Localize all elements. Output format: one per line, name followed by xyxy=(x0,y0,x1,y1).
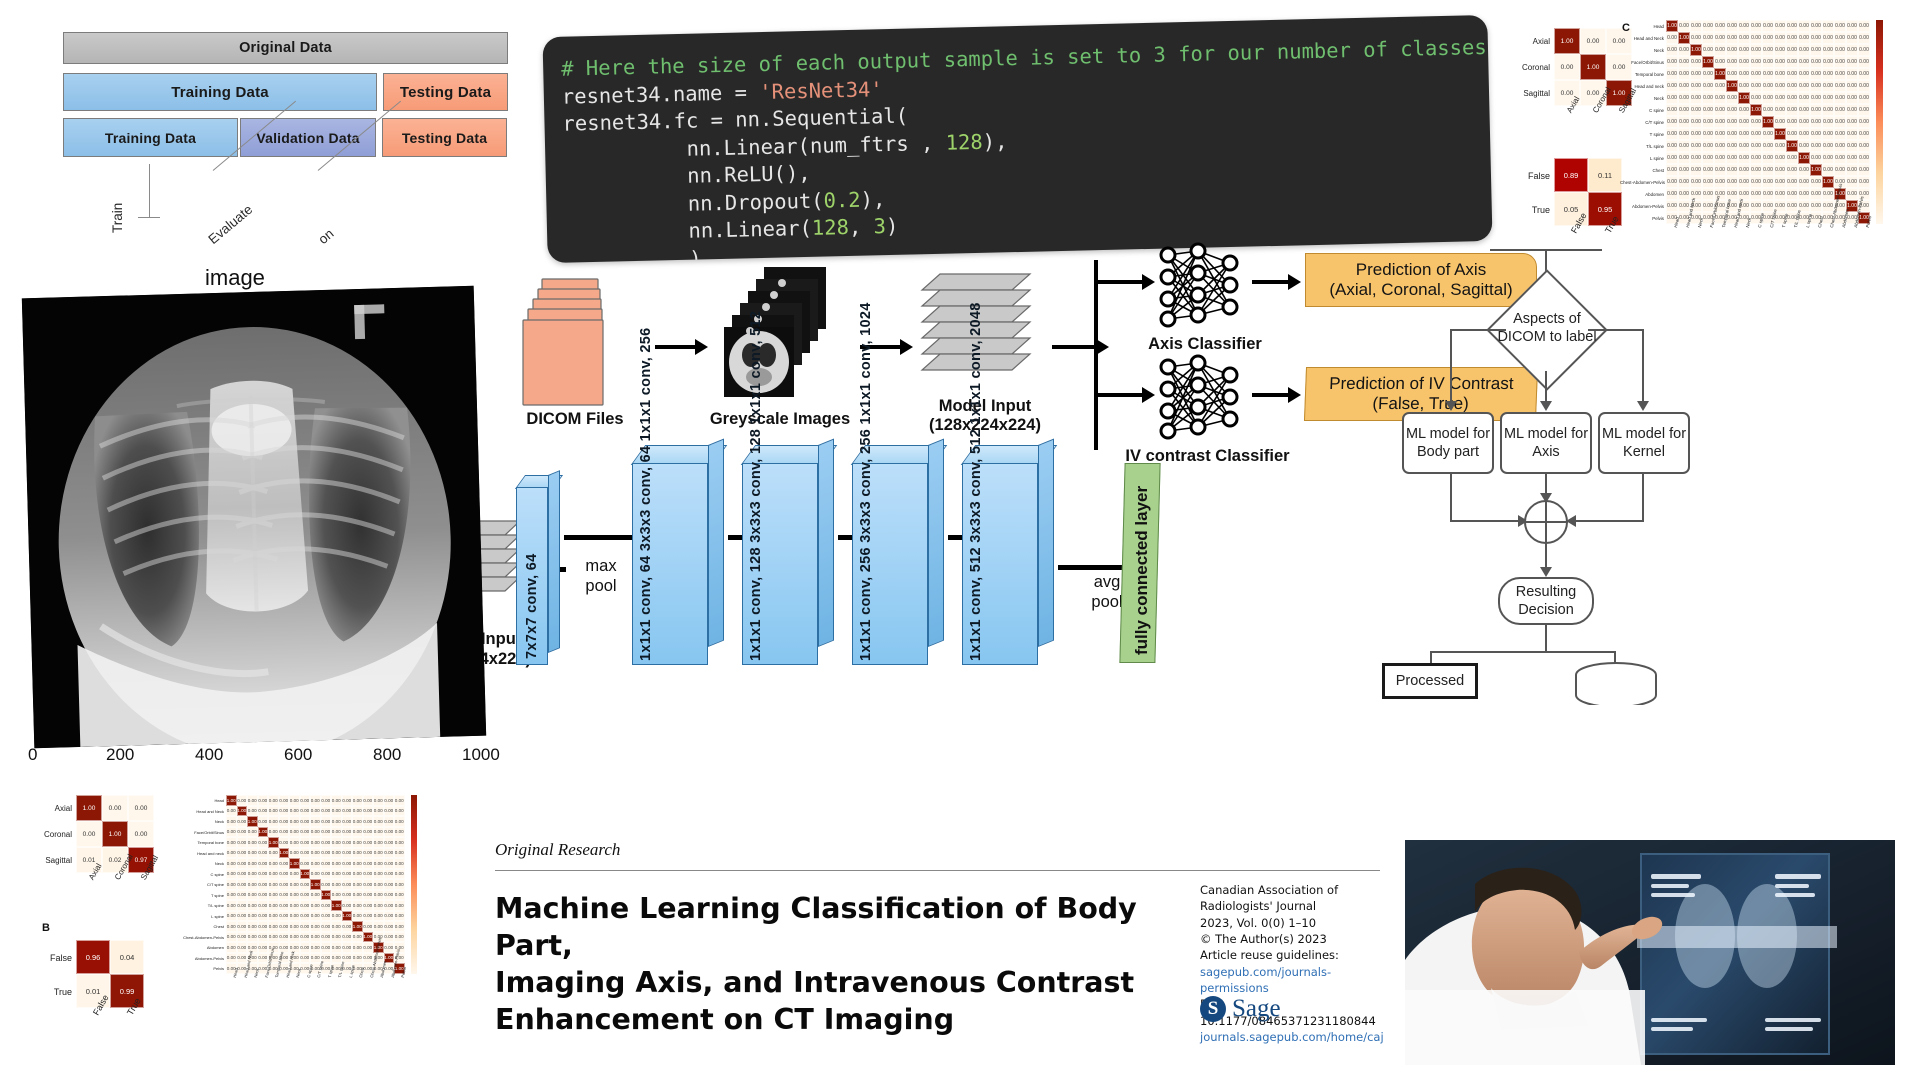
bodypart-matrix-cell: 1.00 xyxy=(1714,68,1726,80)
bodypart-matrix-cell: 0.00 xyxy=(1702,32,1714,44)
bodypart-matrix-cell: 0.00 xyxy=(1834,80,1846,92)
flow-arrow-right-branch xyxy=(1637,401,1649,411)
bodypart-matrix-cell: 0.00 xyxy=(331,827,342,838)
journal-kicker: Original Research xyxy=(495,840,620,860)
bodypart-matrix-cell: 0.00 xyxy=(373,837,384,848)
bodypart-matrix-cell: 0.00 xyxy=(1678,164,1690,176)
greyscale-slices-icon xyxy=(712,265,847,415)
bodypart-matrix-cell: 0.00 xyxy=(310,911,321,922)
journal-society: Canadian Association of Radiologists' Jo… xyxy=(1200,882,1395,915)
bodypart-matrix-cell: 0.00 xyxy=(384,921,395,932)
flow-rail-left-down xyxy=(1450,329,1452,403)
bodypart-matrix-cell: 0.00 xyxy=(1834,56,1846,68)
chest-xray-image xyxy=(22,286,486,748)
bodypart-matrix-cell: 0.00 xyxy=(1786,128,1798,140)
bodypart-matrix-cell: 1.00 xyxy=(1798,152,1810,164)
bodypart-matrix-cell: 0.00 xyxy=(289,806,300,817)
bodypart-matrix-cell: 0.00 xyxy=(363,911,374,922)
bodypart-matrix-cell: 0.00 xyxy=(268,890,279,901)
flow-rail-right-down xyxy=(1642,329,1644,403)
bodypart-matrix-cell: 0.00 xyxy=(1834,20,1846,32)
bodypart-matrix-cell: 0.00 xyxy=(1714,20,1726,32)
bodypart-matrix-cell: 0.00 xyxy=(1786,176,1798,188)
bodypart-matrix-cell: 0.00 xyxy=(226,942,237,953)
bodypart-matrix-cell: 0.00 xyxy=(300,858,311,869)
bodypart-matrix-cell: 0.00 xyxy=(1678,116,1690,128)
bodypart-matrix-cell: 0.00 xyxy=(300,953,311,964)
bodypart-matrix-cell: 0.00 xyxy=(237,848,248,859)
bodypart-matrix-cell: 0.00 xyxy=(394,932,405,943)
bodypart-matrix-cell: 0.00 xyxy=(310,900,321,911)
bodypart-matrix-cell: 0.00 xyxy=(1762,188,1774,200)
bodypart-matrix-cell: 0.00 xyxy=(1810,104,1822,116)
bodypart-matrix-row-label: C spine xyxy=(1620,108,1664,113)
bodypart-matrix-row-label: Abdomen-Pelvis xyxy=(1620,204,1664,209)
code-snippet-text: # Here the size of each output sample is… xyxy=(561,34,1493,263)
bodypart-matrix-cell: 0.00 xyxy=(289,837,300,848)
bodypart-matrix-cell: 0.00 xyxy=(363,942,374,953)
bodypart-matrix-cell: 0.00 xyxy=(1822,128,1834,140)
bodypart-matrix-cell: 0.00 xyxy=(289,921,300,932)
bodypart-matrix-cell: 0.00 xyxy=(394,795,405,806)
bodypart-matrix-cell: 0.00 xyxy=(1762,44,1774,56)
bodypart-matrix-cell: 0.00 xyxy=(352,879,363,890)
bodypart-matrix-cell: 0.00 xyxy=(1834,104,1846,116)
bodypart-matrix-cell: 0.00 xyxy=(300,816,311,827)
bodypart-matrix-cell: 0.00 xyxy=(1774,176,1786,188)
bodypart-matrix-cell: 0.00 xyxy=(1810,68,1822,80)
bodypart-matrix-cell: 0.00 xyxy=(373,921,384,932)
bodypart-matrix-cell: 0.00 xyxy=(1762,92,1774,104)
bodypart-matrix-cell: 0.00 xyxy=(1858,80,1870,92)
bodypart-matrix-cell: 0.00 xyxy=(1774,140,1786,152)
bodypart-matrix-cell: 0.00 xyxy=(394,848,405,859)
bodypart-matrix-cell: 0.00 xyxy=(394,921,405,932)
bodypart-matrix-cell: 0.00 xyxy=(1666,80,1678,92)
confusion-matrix-cell: 1.00 xyxy=(76,795,102,821)
pipeline-label-greyscale-images: Greyscale Images xyxy=(690,410,870,429)
bodypart-matrix-cell: 0.00 xyxy=(352,858,363,869)
bodypart-matrix-cell: 0.00 xyxy=(247,869,258,880)
bodypart-matrix-cell: 0.00 xyxy=(237,816,248,827)
bodypart-matrix-cell: 0.00 xyxy=(1702,44,1714,56)
bodypart-matrix-cell: 0.00 xyxy=(1702,80,1714,92)
bodypart-matrix-cell: 0.00 xyxy=(373,900,384,911)
bodypart-matrix-cell: 0.00 xyxy=(310,921,321,932)
resnet-block-conv4x-label: 1x1x1 conv, 256 3x3x3 conv, 256 1x1x1 co… xyxy=(858,485,874,661)
bodypart-matrix-cell: 0.00 xyxy=(1678,44,1690,56)
bodypart-matrix-cell: 0.00 xyxy=(226,837,237,848)
bodypart-matrix-cell: 0.00 xyxy=(1858,56,1870,68)
bodypart-matrix-cell: 0.00 xyxy=(342,932,353,943)
bodypart-matrix-cell: 0.00 xyxy=(1786,92,1798,104)
bodypart-matrix-cell: 0.00 xyxy=(321,921,332,932)
bodypart-matrix-cell: 0.00 xyxy=(1690,68,1702,80)
chest-xray-figure xyxy=(22,286,486,748)
bodypart-matrix-cell: 0.00 xyxy=(310,890,321,901)
bodypart-matrix-cell: 0.00 xyxy=(1798,188,1810,200)
bodypart-matrix-row-label: Head and neck xyxy=(180,851,224,856)
journal-reuse-label: Article reuse guidelines: xyxy=(1200,947,1395,963)
bodypart-matrix-row-label: C/T spine xyxy=(180,882,224,887)
bodypart-matrix-cell: 0.00 xyxy=(384,932,395,943)
bodypart-matrix-cell: 0.00 xyxy=(258,848,269,859)
bodypart-matrix-cell: 0.00 xyxy=(1726,32,1738,44)
confusion-matrix-row-label: Coronal xyxy=(1520,63,1550,72)
bodypart-matrix-cell: 0.00 xyxy=(1822,32,1834,44)
bodypart-matrix-cell: 0.00 xyxy=(1798,68,1810,80)
bodypart-matrix-col-label: Pelvis xyxy=(400,966,407,977)
bodypart-matrix-cell: 0.00 xyxy=(1834,92,1846,104)
bodypart-matrix-cell: 0.00 xyxy=(1858,44,1870,56)
bodypart-matrix-cell: 0.00 xyxy=(1750,152,1762,164)
bodypart-matrix-cell: 0.00 xyxy=(1702,152,1714,164)
bodypart-matrix-cell: 0.00 xyxy=(342,942,353,953)
bodypart-matrix-cell: 0.00 xyxy=(1846,68,1858,80)
bodypart-matrix-cell: 0.00 xyxy=(1726,128,1738,140)
bodypart-matrix-cell: 0.00 xyxy=(1810,140,1822,152)
bodypart-matrix-cell: 0.00 xyxy=(1822,80,1834,92)
bodypart-matrix-cell: 0.00 xyxy=(1738,140,1750,152)
bodypart-matrix-cell: 1.00 xyxy=(258,827,269,838)
confusion-matrix-cell: 1.00 xyxy=(1580,54,1606,80)
bodypart-matrix-cell: 0.00 xyxy=(247,911,258,922)
bodypart-matrix-cell: 0.00 xyxy=(1810,152,1822,164)
bodypart-matrix-cell: 0.00 xyxy=(258,837,269,848)
bodypart-matrix-cell: 1.00 xyxy=(321,890,332,901)
bodypart-matrix-cell: 1.00 xyxy=(1726,80,1738,92)
bodypart-matrix-cell: 0.00 xyxy=(1858,152,1870,164)
bodypart-matrix-cell: 0.00 xyxy=(1798,56,1810,68)
bodypart-matrix-cell: 0.00 xyxy=(1678,152,1690,164)
pipeline-arrow-3 xyxy=(1052,345,1098,349)
bodypart-matrix-cell: 0.00 xyxy=(300,827,311,838)
flow-box-ml-model-axis: ML model for Axis xyxy=(1500,412,1592,474)
resnet-block-conv3x-label: 1x1x1 conv, 128 3x3x3 conv, 128 1x1x1 co… xyxy=(748,485,764,661)
journal-article-title: Machine Learning Classification of Body … xyxy=(495,890,1195,1038)
bodypart-matrix-cell: 0.00 xyxy=(258,932,269,943)
bodypart-matrix-colorbar xyxy=(411,795,417,974)
flow-output-stem xyxy=(1545,625,1547,651)
bodypart-matrix-cell: 0.00 xyxy=(1726,164,1738,176)
bodypart-matrix-cell: 0.00 xyxy=(321,827,332,838)
bodypart-matrix-cell: 0.00 xyxy=(1810,20,1822,32)
bodypart-matrix-cell: 0.00 xyxy=(226,806,237,817)
bodypart-matrix-row-label: T spine xyxy=(1620,132,1664,137)
bodypart-matrix-cell: 0.00 xyxy=(1798,116,1810,128)
bodypart-matrix-cell: 0.00 xyxy=(258,942,269,953)
bodypart-matrix-cell: 0.00 xyxy=(373,806,384,817)
bodypart-matrix-cell: 0.00 xyxy=(1690,140,1702,152)
bodypart-matrix-cell: 0.00 xyxy=(268,921,279,932)
bodypart-matrix-cell: 1.00 xyxy=(342,911,353,922)
bodypart-matrix-cell: 0.00 xyxy=(1666,176,1678,188)
bodypart-matrix-cell: 0.00 xyxy=(268,827,279,838)
bodypart-matrix-cell: 0.00 xyxy=(1702,176,1714,188)
bodypart-matrix-cell: 0.00 xyxy=(1810,116,1822,128)
bodypart-matrix-cell: 0.00 xyxy=(352,869,363,880)
bodypart-matrix-cell: 0.00 xyxy=(342,900,353,911)
resnet-block-conv5x-label: 1x1x1 conv, 512 3x3x3 conv, 512 1x1x1 co… xyxy=(968,485,984,661)
bodypart-matrix-cell: 1.00 xyxy=(1678,32,1690,44)
bodypart-matrix-cell: 0.00 xyxy=(342,837,353,848)
bodypart-matrix-cell: 0.00 xyxy=(1798,176,1810,188)
confusion-matrix-cell: 0.11 xyxy=(1588,158,1622,192)
journal-volume: 2023, Vol. 0(0) 1–10 xyxy=(1200,915,1395,931)
bodypart-matrix-cell: 0.00 xyxy=(1750,176,1762,188)
bodypart-matrix-cell: 0.00 xyxy=(279,816,290,827)
bodypart-matrix-cell: 0.00 xyxy=(1738,164,1750,176)
bodypart-matrix-cell: 0.00 xyxy=(1786,152,1798,164)
bodypart-matrix-cell: 0.00 xyxy=(394,827,405,838)
flow-rail-right xyxy=(1588,329,1644,331)
bodypart-matrix-cell: 0.00 xyxy=(247,890,258,901)
xray-tick-800: 800 xyxy=(373,745,401,765)
bodypart-matrix-cell: 0.00 xyxy=(1822,68,1834,80)
bodypart-matrix-cell: 0.00 xyxy=(300,879,311,890)
bodypart-matrix-cell: 0.00 xyxy=(1666,152,1678,164)
confusion-matrix-cell: 0.00 xyxy=(76,821,102,847)
bodypart-matrix-row-label: Temporal bone xyxy=(1620,72,1664,77)
confusion-matrix-row-label: True xyxy=(1520,205,1550,215)
bodypart-matrix-cell: 0.00 xyxy=(352,953,363,964)
bodypart-matrix-cell: 0.00 xyxy=(279,837,290,848)
bodypart-matrix-cell: 0.00 xyxy=(1750,188,1762,200)
bodypart-matrix-row-label: Abdomen xyxy=(180,945,224,950)
bodypart-matrix-row-label: Pelvis xyxy=(180,966,224,971)
bodypart-matrix-cell: 0.00 xyxy=(1762,152,1774,164)
bodypart-matrix-cell: 0.00 xyxy=(331,858,342,869)
bodypart-matrix-cell: 0.00 xyxy=(310,869,321,880)
bodypart-matrix-cell: 0.00 xyxy=(1738,116,1750,128)
bodypart-matrix-cell: 0.00 xyxy=(1774,20,1786,32)
split-tick-train xyxy=(149,164,150,217)
bodypart-matrix-cell: 0.00 xyxy=(1846,56,1858,68)
bodypart-matrix-cell: 1.00 xyxy=(1702,56,1714,68)
bodypart-matrix-cell: 0.00 xyxy=(1762,176,1774,188)
bodypart-matrix-cell: 0.00 xyxy=(289,816,300,827)
confusion-matrix-cell: 0.00 xyxy=(128,795,154,821)
bodypart-matrix-cell: 0.00 xyxy=(1666,128,1678,140)
bodypart-matrix-cell: 0.00 xyxy=(237,921,248,932)
bodypart-matrix-cell: 0.00 xyxy=(1774,104,1786,116)
bodypart-matrix-cell: 0.00 xyxy=(279,932,290,943)
bodypart-matrix-cell: 0.00 xyxy=(363,869,374,880)
bodypart-matrix-row-label: Abdomen xyxy=(1620,192,1664,197)
dicom-labelling-flowchart: Aspects of DICOM to label ML model for B… xyxy=(1440,255,1910,685)
bodypart-matrix-cell: 0.00 xyxy=(258,879,269,890)
confusion-matrix-axis-small: 1.000.000.000.001.000.000.010.020.97Axia… xyxy=(42,795,120,873)
bodypart-matrix-cell: 0.00 xyxy=(331,932,342,943)
bodypart-matrix-cell: 0.00 xyxy=(363,827,374,838)
bodypart-matrix-cell: 0.00 xyxy=(394,837,405,848)
bodypart-matrix-cell: 0.00 xyxy=(300,932,311,943)
bodypart-matrix-cell: 0.00 xyxy=(1690,104,1702,116)
bodypart-matrix-cell: 0.00 xyxy=(310,858,321,869)
bodypart-matrix-cell: 0.00 xyxy=(247,827,258,838)
bodypart-matrix-cell: 1.00 xyxy=(1690,44,1702,56)
bodypart-matrix-cell: 0.00 xyxy=(1738,68,1750,80)
bodypart-matrix-row-label: T/L spine xyxy=(1620,144,1664,149)
bodypart-matrix-cell: 0.00 xyxy=(1846,80,1858,92)
xray-axis-ticks: 0 200 400 600 800 1000 xyxy=(10,745,480,769)
bodypart-matrix-cell: 0.00 xyxy=(1774,80,1786,92)
bodypart-matrix-cell: 0.00 xyxy=(1858,116,1870,128)
bodypart-matrix-cell: 0.00 xyxy=(1726,176,1738,188)
bodypart-matrix-cell: 0.00 xyxy=(1810,44,1822,56)
bodypart-matrix-cell: 0.00 xyxy=(300,942,311,953)
bodypart-matrix-cell: 0.00 xyxy=(1750,116,1762,128)
bodypart-matrix-cell: 0.00 xyxy=(1726,140,1738,152)
bodypart-matrix-cell: 0.00 xyxy=(1774,56,1786,68)
bodypart-matrix-row-label: Abdomen-Pelvis xyxy=(180,956,224,961)
bodypart-matrix-cell: 0.00 xyxy=(1666,104,1678,116)
split-row-train-val-test: Training Data Validation Data Testing Da… xyxy=(63,118,508,157)
bodypart-matrix-cell: 0.00 xyxy=(1726,104,1738,116)
confusion-matrix-tag-b: B xyxy=(42,922,50,934)
bodypart-matrix-cell: 0.00 xyxy=(373,890,384,901)
bodypart-matrix-cell: 0.00 xyxy=(289,795,300,806)
flow-rail-center-down xyxy=(1545,371,1547,403)
bodypart-matrix-cell: 0.00 xyxy=(1666,140,1678,152)
bodypart-matrix-cell: 0.00 xyxy=(1846,128,1858,140)
bodypart-matrix-cell: 0.00 xyxy=(1810,200,1822,212)
bodypart-matrix-cell: 0.00 xyxy=(1702,104,1714,116)
bodypart-matrix-cell: 0.00 xyxy=(352,911,363,922)
bodypart-matrix-cell: 0.00 xyxy=(342,869,353,880)
bodypart-matrix-cell: 0.00 xyxy=(310,837,321,848)
bodypart-matrix-cell: 0.00 xyxy=(237,869,248,880)
bodypart-matrix-cell: 0.00 xyxy=(1798,104,1810,116)
bodypart-matrix-cell: 0.00 xyxy=(268,858,279,869)
journal-copyright: © The Author(s) 2023 xyxy=(1200,931,1395,947)
journal-reuse-link[interactable]: sagepub.com/journals-permissions xyxy=(1200,964,1395,997)
bodypart-matrix-cell: 0.00 xyxy=(352,816,363,827)
bodypart-matrix-cell: 0.00 xyxy=(1750,56,1762,68)
bodypart-matrix-cell: 0.00 xyxy=(1738,56,1750,68)
bodypart-matrix-cell: 0.00 xyxy=(352,795,363,806)
bodypart-matrix-cell: 0.00 xyxy=(373,848,384,859)
bodypart-matrix-cell: 0.00 xyxy=(1750,164,1762,176)
bodypart-matrix-cell: 0.00 xyxy=(321,900,332,911)
bodypart-matrix-cell: 0.00 xyxy=(226,816,237,827)
bodypart-matrix-cell: 0.00 xyxy=(258,869,269,880)
bodypart-matrix-cell: 0.00 xyxy=(1726,92,1738,104)
bodypart-matrix-cell: 0.00 xyxy=(363,806,374,817)
bodypart-matrix-cell: 0.00 xyxy=(1786,188,1798,200)
bodypart-matrix-cell: 0.00 xyxy=(226,890,237,901)
bodypart-matrix-cell: 0.00 xyxy=(331,921,342,932)
bodypart-matrix-cell: 0.00 xyxy=(1846,20,1858,32)
bodypart-matrix-cell: 0.00 xyxy=(1858,104,1870,116)
bodypart-matrix-cell: 0.00 xyxy=(1810,56,1822,68)
bodypart-matrix-cell: 0.00 xyxy=(1714,164,1726,176)
bodypart-matrix-row-label: Face/Orbit/Sinus xyxy=(180,830,224,835)
bodypart-matrix-cell: 0.00 xyxy=(352,890,363,901)
bodypart-matrix-cell: 0.00 xyxy=(279,921,290,932)
bodypart-matrix-cell: 0.00 xyxy=(237,858,248,869)
bodypart-matrix-cell: 0.00 xyxy=(384,942,395,953)
bodypart-matrix-row-label: Chest xyxy=(1620,168,1664,173)
bodypart-matrix-cell: 0.00 xyxy=(384,900,395,911)
bodypart-matrix-cell: 0.00 xyxy=(258,900,269,911)
bodypart-matrix-cell: 0.00 xyxy=(394,858,405,869)
bodypart-matrix-cell: 0.00 xyxy=(1834,128,1846,140)
bodypart-matrix-cell: 0.00 xyxy=(1858,140,1870,152)
flow-merge-right-down xyxy=(1642,474,1644,522)
bodypart-matrix-row-label: L spine xyxy=(180,914,224,919)
flow-merge-left-down xyxy=(1450,474,1452,522)
split-row-train-test: Training Data Testing Data xyxy=(63,73,508,111)
bodypart-matrix-cell: 0.00 xyxy=(1702,92,1714,104)
bodypart-matrix-col-label: Chest xyxy=(1817,216,1824,228)
bodypart-matrix-row-label: C/T spine xyxy=(1620,120,1664,125)
fully-connected-layer-label: fully connected layer xyxy=(1132,473,1152,655)
bodypart-matrix-cell: 0.00 xyxy=(1726,116,1738,128)
bodypart-matrix-cell: 0.00 xyxy=(1798,140,1810,152)
journal-home-link[interactable]: journals.sagepub.com/home/caj xyxy=(1200,1029,1395,1045)
bodypart-matrix-cell: 0.00 xyxy=(352,806,363,817)
bodypart-matrix-cell: 0.00 xyxy=(226,869,237,880)
bodypart-matrix-cell: 0.00 xyxy=(237,900,248,911)
bodypart-matrix-cell: 0.00 xyxy=(394,911,405,922)
bodypart-matrix-cell: 0.00 xyxy=(310,848,321,859)
bodypart-matrix-cell: 0.00 xyxy=(1702,188,1714,200)
bodypart-matrix-cell: 0.00 xyxy=(1714,104,1726,116)
bodypart-matrix-cell: 0.00 xyxy=(1858,128,1870,140)
split-annotation-train: Train xyxy=(110,203,125,233)
bodypart-matrix-cell: 0.00 xyxy=(384,890,395,901)
bodypart-matrix-cell: 0.00 xyxy=(1738,32,1750,44)
bodypart-matrix-cell: 1.00 xyxy=(1822,176,1834,188)
bodypart-matrix-cell: 0.00 xyxy=(1702,20,1714,32)
graphical-abstract-canvas: Original Data Training Data Testing Data… xyxy=(0,0,1920,1080)
pipeline-arrow-to-contrast xyxy=(1096,393,1144,397)
bodypart-matrix-cell: 0.00 xyxy=(310,932,321,943)
bodypart-matrix-cell: 0.00 xyxy=(373,911,384,922)
bodypart-matrix-cell: 0.00 xyxy=(226,921,237,932)
bodypart-matrix-cell: 0.00 xyxy=(384,869,395,880)
flow-merge-right-in xyxy=(1570,520,1644,522)
bodypart-matrix-cell: 0.00 xyxy=(1666,164,1678,176)
bodypart-matrix-cell: 0.00 xyxy=(1822,164,1834,176)
bodypart-matrix-cell: 0.00 xyxy=(1834,152,1846,164)
bodypart-matrix-cell: 0.00 xyxy=(1798,164,1810,176)
bodypart-matrix-cell: 0.00 xyxy=(331,806,342,817)
bodypart-matrix-row-label: L spine xyxy=(1620,156,1664,161)
flow-output-rail xyxy=(1430,651,1616,653)
bodypart-matrix-row-label: Neck xyxy=(180,861,224,866)
bodypart-matrix-cell: 0.00 xyxy=(331,942,342,953)
bodypart-matrix-cell: 0.00 xyxy=(300,806,311,817)
bodypart-matrix-cell: 0.00 xyxy=(247,806,258,817)
bodypart-matrix-cell: 0.00 xyxy=(247,921,258,932)
bodypart-matrix-cell: 0.00 xyxy=(1678,104,1690,116)
bodypart-matrix-cell: 0.00 xyxy=(1666,68,1678,80)
radiologist-photo-render xyxy=(1405,840,1895,1065)
bodypart-matrix-cell: 0.00 xyxy=(1846,104,1858,116)
bodypart-matrix-cell: 0.00 xyxy=(363,879,374,890)
resnet-maxpool-label: max pool xyxy=(566,557,636,597)
bodypart-matrix-cell: 0.00 xyxy=(331,890,342,901)
bodypart-matrix-cell: 0.00 xyxy=(321,806,332,817)
bodypart-matrix-cell: 0.00 xyxy=(237,827,248,838)
bodypart-matrix-cell: 0.00 xyxy=(289,890,300,901)
bodypart-matrix-cell: 0.00 xyxy=(258,890,269,901)
bodypart-matrix-cell: 0.00 xyxy=(394,816,405,827)
confusion-matrix-cell: 1.00 xyxy=(1554,28,1580,54)
bodypart-matrix-cell: 0.00 xyxy=(1714,140,1726,152)
